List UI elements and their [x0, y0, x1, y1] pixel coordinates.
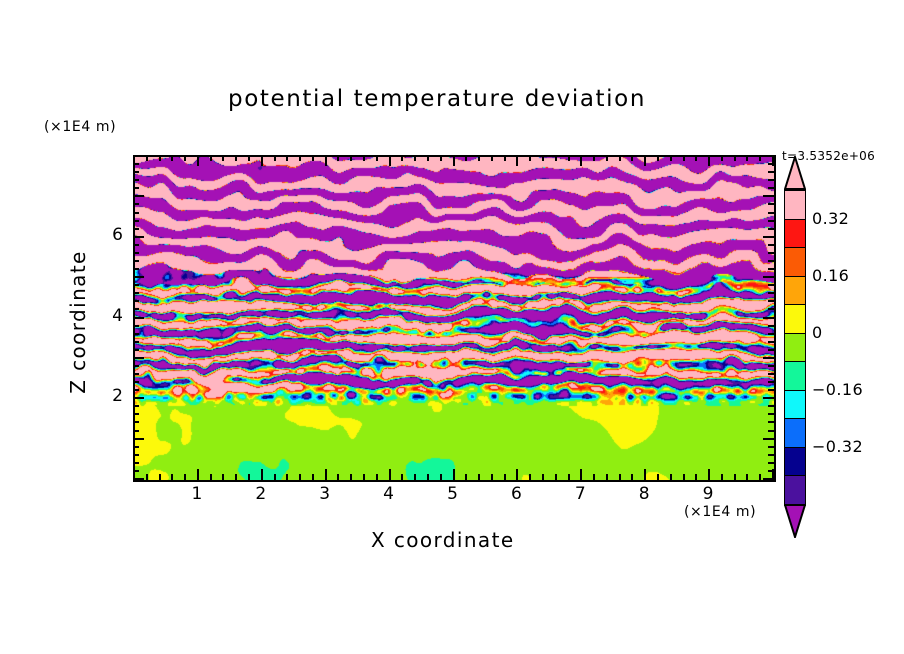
x-tick-label: 3	[310, 484, 340, 504]
colorbar-band	[784, 447, 806, 477]
x-tick-bottom	[619, 474, 621, 480]
y-tick-right	[768, 381, 774, 383]
y-tick-left	[133, 163, 139, 165]
x-tick-top	[261, 155, 263, 166]
y-tick-right	[768, 228, 774, 230]
x-axis-title: X coordinate	[371, 528, 515, 552]
colorbar-tick-label: −0.16	[812, 380, 863, 399]
x-tick-top	[734, 155, 736, 161]
y-tick-right	[763, 317, 774, 319]
y-tick-left	[133, 397, 144, 399]
x-tick-top	[325, 155, 327, 166]
colorbar-band	[784, 361, 806, 391]
x-tick-bottom	[555, 474, 557, 480]
x-tick-bottom	[759, 474, 761, 480]
x-tick-label: 5	[438, 484, 468, 504]
y-tick-right	[768, 446, 774, 448]
y-tick-right	[763, 236, 774, 238]
colorbar-band	[784, 333, 806, 363]
y-tick-right	[768, 244, 774, 246]
x-tick-bottom	[593, 474, 595, 480]
x-tick-label: 7	[565, 484, 595, 504]
y-tick-left	[133, 365, 139, 367]
page-title: potential temperature deviation	[228, 86, 646, 112]
x-tick-bottom	[478, 474, 480, 480]
y-tick-right	[768, 220, 774, 222]
x-tick-top	[210, 155, 212, 161]
x-tick-top	[683, 155, 685, 161]
colorbar-tick-label: −0.32	[812, 437, 863, 456]
x-tick-bottom	[146, 474, 148, 480]
x-tick-top	[389, 155, 391, 166]
x-tick-top	[657, 155, 659, 161]
x-tick-bottom	[299, 474, 301, 480]
x-tick-bottom	[171, 474, 173, 480]
y-tick-right	[768, 187, 774, 189]
x-tick-top	[465, 155, 467, 161]
x-tick-top	[619, 155, 621, 161]
y-tick-right	[768, 413, 774, 415]
y-tick-left	[133, 325, 139, 327]
x-tick-top	[529, 155, 531, 161]
x-tick-bottom	[631, 474, 633, 480]
x-tick-bottom	[427, 474, 429, 480]
x-tick-bottom	[350, 474, 352, 480]
x-tick-bottom	[286, 474, 288, 480]
x-tick-bottom	[465, 474, 467, 480]
x-tick-top	[644, 155, 646, 166]
y-tick-left	[133, 421, 139, 423]
y-tick-right	[768, 300, 774, 302]
x-tick-top	[721, 155, 723, 161]
y-tick-right	[768, 405, 774, 407]
x-tick-top	[427, 155, 429, 161]
x-tick-top	[197, 155, 199, 166]
x-tick-bottom	[695, 474, 697, 480]
y-tick-left	[133, 187, 139, 189]
x-tick-top	[478, 155, 480, 161]
y-tick-right	[768, 212, 774, 214]
x-tick-top	[248, 155, 250, 161]
x-tick-bottom	[261, 469, 263, 480]
x-tick-bottom	[683, 474, 685, 480]
x-tick-top	[440, 155, 442, 161]
x-tick-top	[363, 155, 365, 161]
x-tick-top	[184, 155, 186, 161]
plot-area	[133, 155, 776, 482]
x-tick-top	[414, 155, 416, 161]
y-tick-right	[763, 155, 774, 157]
x-tick-bottom	[568, 474, 570, 480]
x-tick-label: 6	[501, 484, 531, 504]
colorbar-under-arrow	[784, 504, 806, 538]
y-tick-left	[133, 438, 144, 440]
x-tick-bottom	[414, 474, 416, 480]
y-tick-right	[768, 421, 774, 423]
y-tick-left	[133, 220, 139, 222]
y-tick-left	[133, 430, 139, 432]
y-tick-left	[133, 446, 139, 448]
x-tick-bottom	[274, 474, 276, 480]
x-tick-bottom	[376, 474, 378, 480]
y-tick-left	[133, 357, 144, 359]
x-tick-label: 2	[246, 484, 276, 504]
y-tick-left	[133, 203, 139, 205]
x-tick-bottom	[516, 469, 518, 480]
x-tick-label: 1	[182, 484, 212, 504]
y-tick-right	[768, 171, 774, 173]
y-tick-left	[133, 405, 139, 407]
x-tick-bottom	[401, 474, 403, 480]
y-tick-left	[133, 308, 139, 310]
x-tick-top	[222, 155, 224, 161]
x-tick-bottom	[337, 474, 339, 480]
x-tick-top	[453, 155, 455, 166]
y-tick-left	[133, 244, 139, 246]
y-tick-right	[763, 478, 774, 480]
y-tick-left	[133, 252, 139, 254]
x-tick-bottom	[529, 474, 531, 480]
x-tick-top	[299, 155, 301, 161]
colorbar-band	[784, 475, 806, 505]
x-tick-bottom	[159, 474, 161, 480]
x-tick-top	[542, 155, 544, 161]
y-tick-left	[133, 212, 139, 214]
colorbar: 0.320.160−0.16−0.32	[784, 156, 806, 538]
y-tick-right	[768, 252, 774, 254]
y-tick-label: 6	[93, 225, 123, 245]
x-tick-top	[555, 155, 557, 161]
y-tick-right	[768, 292, 774, 294]
x-tick-bottom	[184, 474, 186, 480]
colorbar-tick-label: 0	[812, 323, 823, 342]
y-tick-right	[768, 268, 774, 270]
x-tick-bottom	[453, 469, 455, 480]
x-tick-label: 9	[693, 484, 723, 504]
y-tick-left	[133, 292, 139, 294]
x-tick-bottom	[606, 474, 608, 480]
x-tick-top	[593, 155, 595, 161]
x-tick-bottom	[389, 469, 391, 480]
y-tick-left	[133, 236, 144, 238]
x-tick-top	[274, 155, 276, 161]
y-tick-left	[133, 462, 139, 464]
y-axis-unit-label: (×1E4 m)	[44, 119, 116, 135]
contour-field-canvas	[135, 157, 774, 480]
x-tick-bottom	[440, 474, 442, 480]
x-tick-top	[376, 155, 378, 161]
colorbar-over-arrow	[784, 156, 806, 190]
y-tick-right	[768, 325, 774, 327]
x-tick-top	[312, 155, 314, 161]
y-tick-left	[133, 260, 139, 262]
y-axis-title: Z coordinate	[66, 232, 90, 412]
y-tick-left	[133, 171, 139, 173]
y-tick-left	[133, 155, 144, 157]
y-tick-left	[133, 179, 139, 181]
colorbar-band	[784, 304, 806, 334]
y-tick-left	[133, 276, 144, 278]
y-tick-right	[768, 260, 774, 262]
y-tick-left	[133, 333, 139, 335]
x-tick-top	[759, 155, 761, 161]
x-tick-top	[337, 155, 339, 161]
x-tick-bottom	[312, 474, 314, 480]
colorbar-band	[784, 190, 806, 220]
y-tick-left	[133, 389, 139, 391]
x-tick-bottom	[491, 474, 493, 480]
contour-plot-figure: potential temperature deviation (×1E4 m)…	[0, 0, 904, 654]
y-tick-left	[133, 478, 144, 480]
y-tick-right	[763, 397, 774, 399]
y-tick-right	[768, 454, 774, 456]
x-tick-bottom	[746, 474, 748, 480]
colorbar-band	[784, 247, 806, 277]
x-tick-top	[235, 155, 237, 161]
x-tick-bottom	[197, 469, 199, 480]
y-tick-right	[768, 163, 774, 165]
x-tick-top	[695, 155, 697, 161]
x-tick-top	[708, 155, 710, 166]
x-tick-bottom	[210, 474, 212, 480]
y-tick-right	[768, 284, 774, 286]
y-tick-left	[133, 470, 139, 472]
x-tick-top	[606, 155, 608, 161]
x-tick-top	[670, 155, 672, 161]
x-tick-bottom	[734, 474, 736, 480]
y-tick-right	[768, 349, 774, 351]
x-tick-top	[631, 155, 633, 161]
y-tick-right	[768, 308, 774, 310]
x-tick-bottom	[248, 474, 250, 480]
y-tick-right	[768, 462, 774, 464]
x-tick-bottom	[708, 469, 710, 480]
y-tick-left	[133, 413, 139, 415]
y-tick-right	[763, 195, 774, 197]
colorbar-band	[784, 390, 806, 420]
y-tick-right	[768, 430, 774, 432]
x-tick-top	[286, 155, 288, 161]
y-tick-left	[133, 454, 139, 456]
x-tick-bottom	[325, 469, 327, 480]
x-tick-bottom	[580, 469, 582, 480]
y-tick-label: 4	[93, 306, 123, 326]
x-tick-top	[491, 155, 493, 161]
y-tick-left	[133, 228, 139, 230]
x-axis-unit-label: (×1E4 m)	[684, 504, 756, 520]
x-tick-top	[171, 155, 173, 161]
y-tick-right	[768, 341, 774, 343]
x-tick-bottom	[657, 474, 659, 480]
x-tick-top	[401, 155, 403, 161]
x-tick-label: 4	[374, 484, 404, 504]
x-tick-bottom	[644, 469, 646, 480]
x-tick-bottom	[542, 474, 544, 480]
x-tick-top	[159, 155, 161, 161]
y-tick-right	[768, 470, 774, 472]
x-tick-top	[580, 155, 582, 166]
y-tick-right	[763, 276, 774, 278]
y-tick-left	[133, 317, 144, 319]
y-tick-left	[133, 373, 139, 375]
x-tick-top	[504, 155, 506, 161]
y-tick-right	[768, 365, 774, 367]
y-tick-right	[763, 357, 774, 359]
y-tick-left	[133, 381, 139, 383]
x-tick-bottom	[504, 474, 506, 480]
y-tick-right	[768, 333, 774, 335]
x-tick-bottom	[363, 474, 365, 480]
x-tick-bottom	[670, 474, 672, 480]
y-tick-label: 2	[93, 386, 123, 406]
x-tick-bottom	[721, 474, 723, 480]
x-tick-top	[146, 155, 148, 161]
y-tick-right	[768, 179, 774, 181]
colorbar-band	[784, 219, 806, 249]
x-tick-top	[516, 155, 518, 166]
colorbar-band	[784, 276, 806, 306]
y-tick-left	[133, 195, 144, 197]
colorbar-tick-label: 0.16	[812, 266, 849, 285]
x-tick-top	[568, 155, 570, 161]
y-tick-right	[768, 373, 774, 375]
y-tick-right	[763, 438, 774, 440]
colorbar-band	[784, 418, 806, 448]
colorbar-tick-label: 0.32	[812, 209, 849, 228]
x-tick-bottom	[235, 474, 237, 480]
x-tick-label: 8	[629, 484, 659, 504]
x-tick-bottom	[222, 474, 224, 480]
x-tick-top	[350, 155, 352, 161]
y-tick-right	[768, 389, 774, 391]
y-tick-left	[133, 268, 139, 270]
y-tick-left	[133, 349, 139, 351]
x-tick-top	[746, 155, 748, 161]
y-tick-left	[133, 300, 139, 302]
y-tick-left	[133, 341, 139, 343]
y-tick-left	[133, 284, 139, 286]
y-tick-right	[768, 203, 774, 205]
